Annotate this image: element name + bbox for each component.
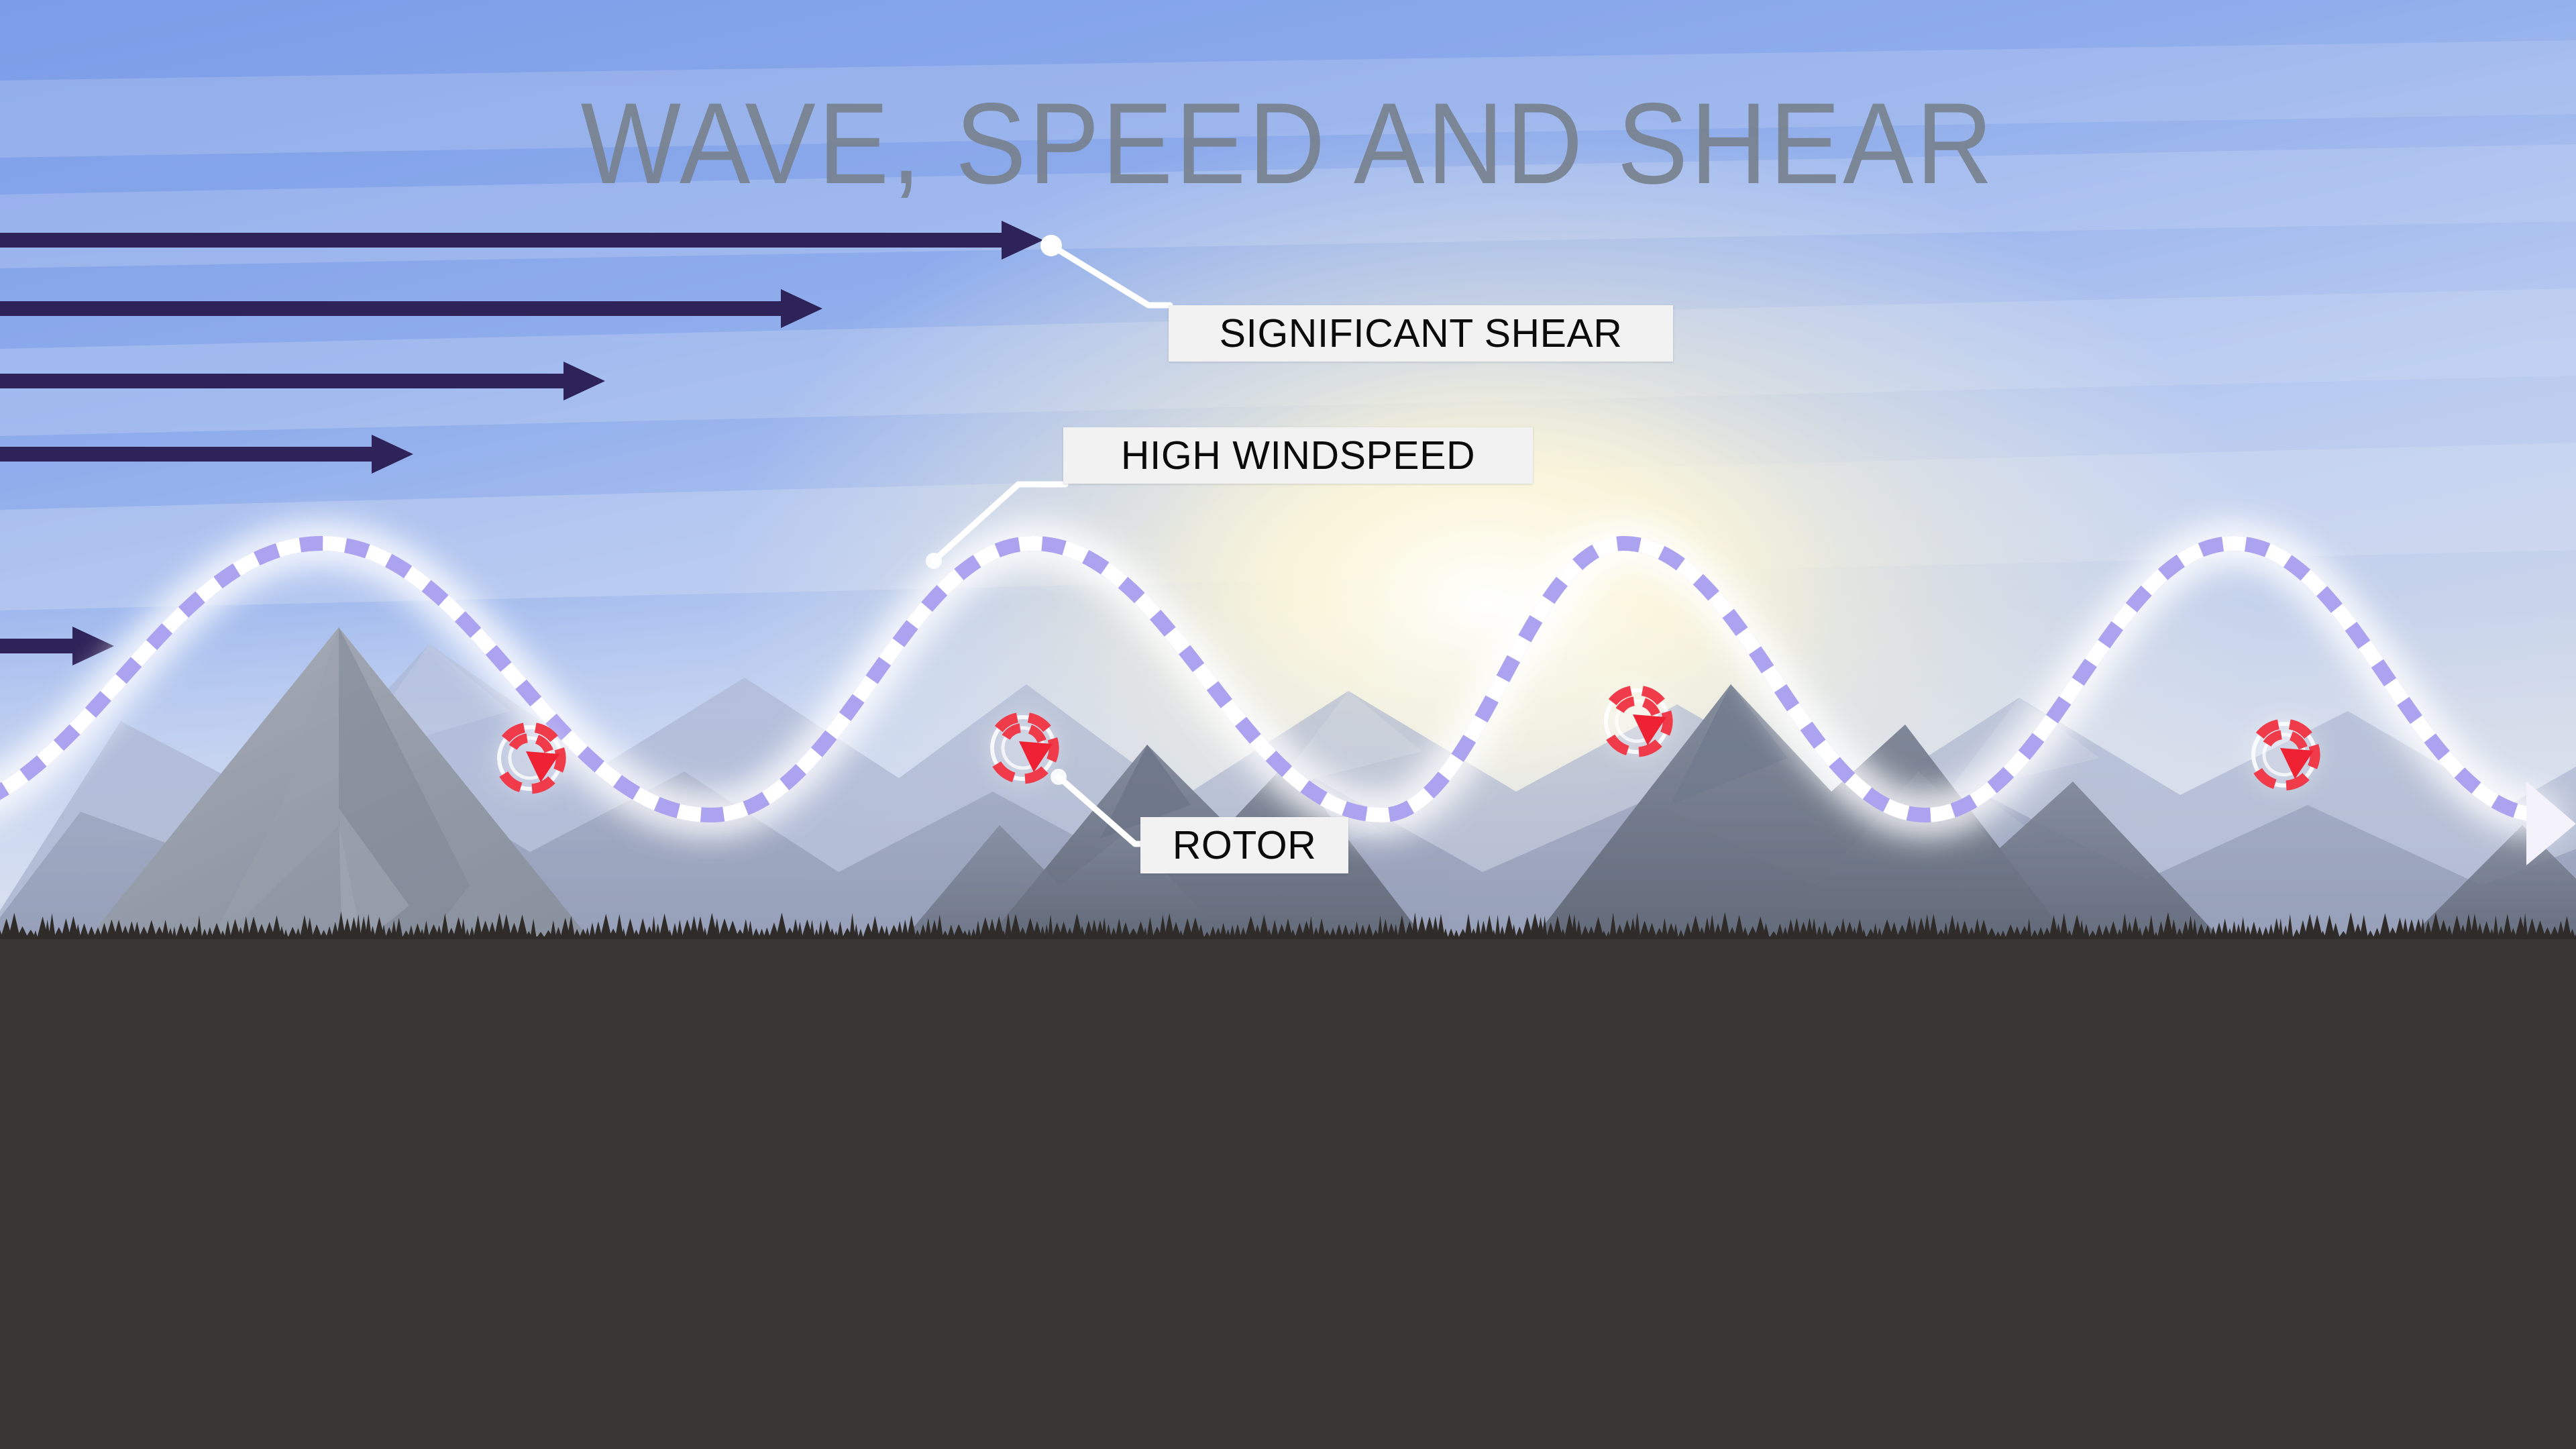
connector-dot-shear bbox=[1040, 235, 1062, 256]
label-rotor: ROTOR bbox=[1140, 817, 1348, 873]
ground-area bbox=[0, 939, 2576, 1449]
connector-dot-rotor bbox=[1051, 769, 1067, 785]
mountain-scene: WAVE, SPEED AND SHEAR SIGNIFICANT SHEAR … bbox=[0, 0, 2576, 953]
connector-rotor bbox=[1059, 777, 1142, 844]
label-significant-shear: SIGNIFICANT SHEAR bbox=[1169, 305, 1673, 362]
connector-significant-shear bbox=[1051, 246, 1170, 305]
connector-high-windspeed bbox=[934, 484, 1065, 561]
connector-dot-windspeed bbox=[926, 553, 942, 569]
diagram-canvas: WAVE, SPEED AND SHEAR SIGNIFICANT SHEAR … bbox=[0, 0, 2576, 1449]
page-title: WAVE, SPEED AND SHEAR bbox=[103, 77, 2473, 210]
label-high-windspeed: HIGH WINDSPEED bbox=[1063, 427, 1533, 484]
